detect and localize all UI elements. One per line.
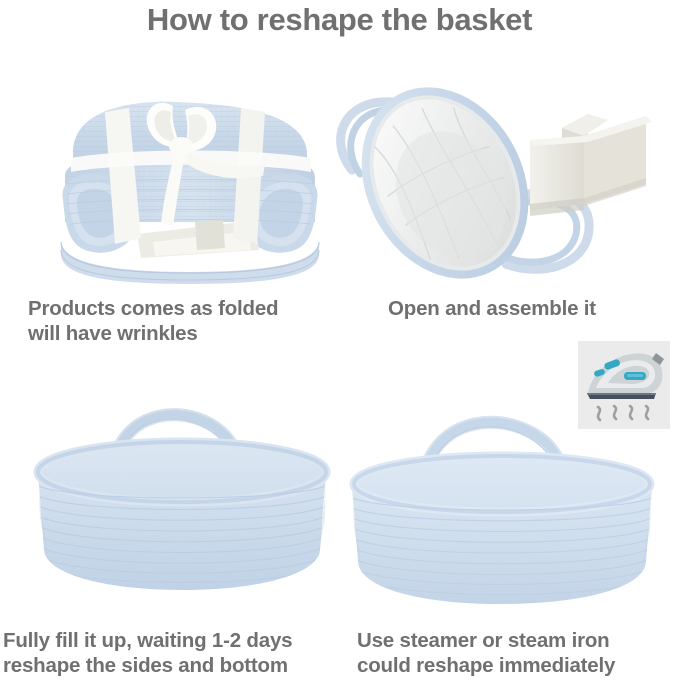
caption-folded-basket: Products comes as folded will have wrink… [28, 296, 328, 346]
caption-open-basket: Open and assemble it [388, 296, 648, 321]
basket-body [38, 446, 326, 590]
steam-iron-icon [578, 341, 670, 429]
instruction-graphic: How to reshape the basket [0, 0, 679, 687]
divider-panels [530, 114, 652, 216]
filled-basket-photo [20, 368, 345, 613]
page-title: How to reshape the basket [0, 2, 679, 38]
folded-basket-photo [45, 72, 335, 287]
open-basket-photo [330, 78, 675, 283]
caption-filled-basket: Fully fill it up, waiting 1-2 days resha… [3, 628, 353, 678]
caption-steamed-basket: Use steamer or steam iron could reshape … [357, 628, 679, 678]
divider-left-wing [530, 136, 584, 210]
